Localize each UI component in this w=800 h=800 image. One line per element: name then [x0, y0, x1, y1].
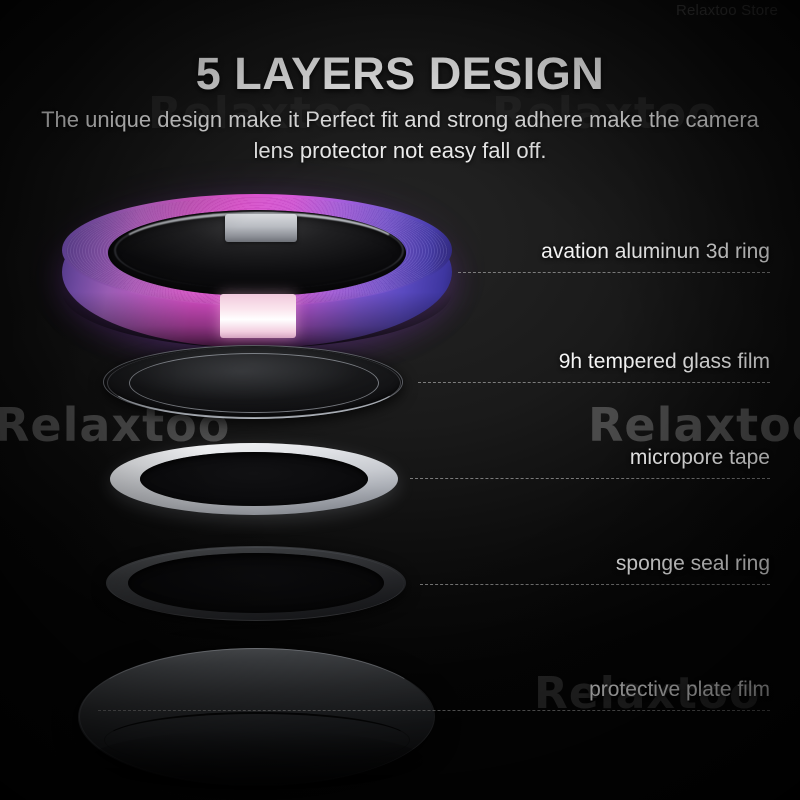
leader-line-sponge-seal-ring: [420, 584, 770, 585]
ring-outer-highlight-patch: [220, 294, 296, 338]
tape-shading: [110, 443, 398, 515]
sponge-edge-highlight: [108, 547, 404, 621]
leader-line-aviation-aluminium-ring: [458, 272, 770, 273]
layer-label-protective-plate-film: protective plate film: [589, 678, 770, 702]
plate-seam-line: [104, 712, 410, 768]
plate-edge-highlight: [79, 648, 435, 785]
ring-lens-cavity: [108, 210, 406, 296]
ring-machined-grooves: [66, 197, 448, 305]
ring-cavity-highlight-arc: [114, 212, 404, 289]
leader-line-micropore-tape: [410, 478, 770, 479]
tape-annulus: [110, 443, 398, 515]
store-label: Relaxtoo Store: [676, 2, 778, 19]
page-title: 5 LAYERS DESIGN: [0, 48, 800, 100]
tape-center-hole: [140, 452, 368, 506]
layer-graphic-protective-plate-film: [78, 648, 434, 786]
watermark-relaxtoo: Relaxtoo: [0, 398, 230, 452]
plate-bottom-shading: [88, 730, 424, 790]
ring-outer-wall: [62, 196, 452, 348]
layer-graphic-micropore-tape: [110, 443, 398, 515]
ring-top-face: [62, 194, 452, 306]
sponge-annulus: [106, 546, 406, 620]
layer-label-tempered-glass-film: 9h tempered glass film: [559, 350, 770, 374]
layer-label-aviation-aluminium-ring: avation aluminun 3d ring: [541, 240, 770, 264]
watermark-relaxtoo: Relaxtoo: [588, 398, 800, 452]
page-subtitle: The unique design make it Perfect fit an…: [0, 104, 800, 166]
ring-wall-shading: [62, 292, 452, 348]
layer-label-micropore-tape: micropore tape: [630, 446, 770, 470]
product-infographic: Relaxtoo Relaxtoo Relaxtoo Relaxtoo Rela…: [0, 0, 800, 800]
layer-graphic-aviation-aluminium-ring: [62, 196, 452, 348]
layer-graphic-sponge-seal-ring: [106, 546, 406, 620]
sponge-center-hole: [128, 553, 384, 613]
leader-line-protective-plate-film: [98, 710, 770, 711]
ring-inner-silver-highlight: [225, 214, 297, 242]
leader-line-tempered-glass-film: [418, 382, 770, 383]
plate-disc: [78, 648, 434, 786]
layer-label-sponge-seal-ring: sponge seal ring: [616, 552, 770, 576]
